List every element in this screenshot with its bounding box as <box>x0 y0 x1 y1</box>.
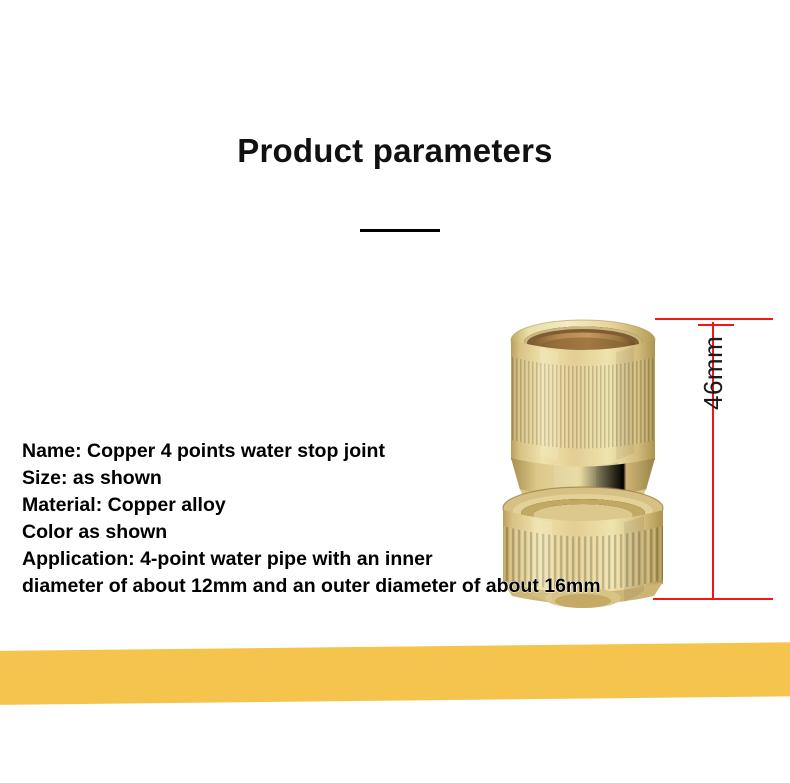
param-line-material: Material: Copper alloy <box>22 492 782 519</box>
param-line-color: Color as shown <box>22 519 782 546</box>
bottom-yellow-banner <box>0 642 790 705</box>
product-parameter-list: Name: Copper 4 points water stop joint S… <box>22 438 782 600</box>
param-line-size: Size: as shown <box>22 465 782 492</box>
dimension-top-tick <box>698 324 734 326</box>
dimension-top-rule <box>655 318 773 320</box>
page-title: Product parameters <box>0 131 790 171</box>
param-line-application-cont: diameter of about 12mm and an outer diam… <box>22 573 782 600</box>
title-divider <box>360 229 440 232</box>
param-line-name: Name: Copper 4 points water stop joint <box>22 438 782 465</box>
dimension-label: 46mm <box>698 336 729 410</box>
param-line-application: Application: 4-point water pipe with an … <box>22 546 782 573</box>
